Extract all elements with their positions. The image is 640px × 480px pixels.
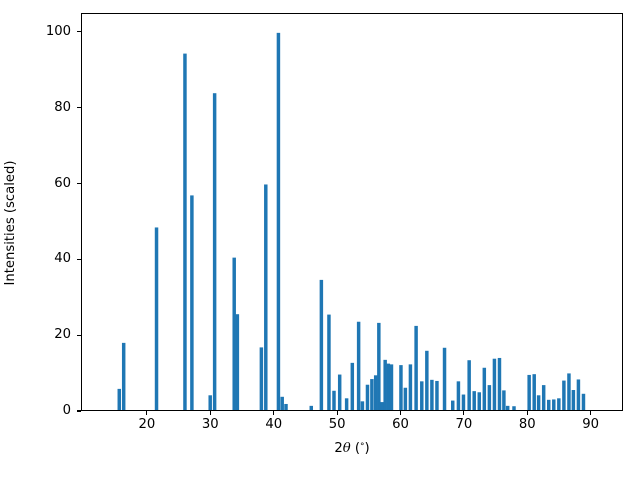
xrd-peak-bar — [404, 388, 407, 410]
x-tick-label: 30 — [185, 417, 235, 433]
xrd-peak-bar — [572, 390, 575, 410]
x-tick-label: 90 — [566, 417, 616, 433]
xrd-peak-bar — [502, 390, 505, 410]
y-tick-mark — [77, 335, 81, 336]
xrd-peak-bar — [443, 348, 446, 410]
xrd-peak-bar — [122, 343, 125, 410]
xrd-peak-bar — [277, 33, 280, 410]
xrd-peak-bar — [493, 359, 496, 410]
xrd-peak-bar — [488, 385, 491, 410]
xrd-peak-bar — [506, 406, 509, 410]
xrd-peak-bar — [457, 381, 460, 410]
y-tick-mark — [77, 410, 81, 411]
xrd-peak-bar — [208, 395, 211, 410]
x-axis-title-unit-open: ( — [351, 441, 360, 456]
xrd-peak-bar — [345, 398, 348, 410]
y-tick-mark — [77, 31, 81, 32]
xrd-peak-bar — [498, 358, 501, 410]
xrd-peak-bar — [366, 385, 369, 410]
x-tick-label: 50 — [312, 417, 362, 433]
xrd-peak-bar — [213, 93, 216, 410]
xrd-peak-bar — [547, 400, 550, 410]
x-tick-label: 40 — [249, 417, 299, 433]
x-tick-label: 20 — [122, 417, 172, 433]
xrd-peak-bar — [562, 381, 565, 410]
x-tick-mark — [210, 411, 211, 415]
xrd-peak-bar — [537, 395, 540, 410]
xrd-peak-bar — [430, 380, 433, 410]
xrd-peak-bar — [567, 373, 570, 410]
xrd-peak-bar — [420, 381, 423, 410]
xrd-peak-bar — [280, 397, 283, 410]
xrd-peak-bar — [264, 184, 267, 410]
xrd-peak-bar — [351, 363, 354, 410]
xrd-peak-bar — [532, 374, 535, 410]
xrd-peak-bar — [183, 54, 186, 410]
xrd-bar-series — [82, 14, 622, 410]
xrd-peak-bar — [380, 402, 383, 410]
x-tick-label: 70 — [439, 417, 489, 433]
y-tick-mark — [77, 107, 81, 108]
y-axis-title: Intensities (scaled) — [0, 24, 22, 422]
xrd-peak-bar — [370, 379, 373, 410]
x-axis-title-unit-close: ) — [365, 441, 370, 456]
xrd-peak-bar — [409, 364, 412, 410]
x-tick-mark — [337, 411, 338, 415]
xrd-peak-bar — [118, 389, 121, 410]
xrd-peak-bar — [377, 323, 380, 410]
y-tick-mark — [77, 183, 81, 184]
xrd-peak-bar — [327, 315, 330, 410]
xrd-peak-bar — [467, 360, 470, 410]
x-tick-mark — [146, 411, 147, 415]
xrd-peak-bar — [577, 379, 580, 410]
xrd-peak-bar — [472, 391, 475, 410]
xrd-peak-bar — [190, 195, 193, 410]
x-tick-mark — [463, 411, 464, 415]
xrd-peak-bar — [582, 394, 585, 410]
xrd-peak-bar — [425, 351, 428, 410]
xrd-peak-bar — [284, 404, 287, 410]
xrd-peak-bar — [483, 368, 486, 410]
xrd-peak-bar — [155, 227, 158, 410]
xrd-peak-bar — [361, 401, 364, 410]
xrd-peak-bar — [260, 347, 263, 410]
xrd-peak-bar — [390, 364, 393, 410]
x-axis-title: 2θ (°) — [81, 441, 623, 456]
x-tick-mark — [590, 411, 591, 415]
xrd-peak-bar — [512, 406, 515, 410]
xrd-peak-bar — [414, 326, 417, 410]
xrd-peak-bar — [387, 364, 390, 410]
x-axis-title-theta-symbol: θ — [343, 441, 351, 456]
xrd-peak-bar — [320, 280, 323, 410]
xrd-peak-bar — [236, 314, 239, 410]
x-tick-mark — [273, 411, 274, 415]
xrd-peak-bar — [451, 401, 454, 410]
xrd-peak-bar — [332, 391, 335, 410]
x-axis-title-prefix: 2 — [334, 441, 342, 456]
xrd-peak-bar — [542, 385, 545, 410]
xrd-peak-bar — [435, 381, 438, 410]
figure-canvas: 2030405060708090 020406080100 2θ (°) Int… — [0, 0, 640, 480]
xrd-peak-bar — [383, 360, 386, 410]
x-tick-mark — [400, 411, 401, 415]
x-tick-mark — [527, 411, 528, 415]
xrd-peak-bar — [462, 395, 465, 410]
xrd-peak-bar — [338, 375, 341, 410]
xrd-peak-bar — [310, 406, 313, 410]
xrd-peak-bar — [552, 399, 555, 410]
xrd-peak-bar — [527, 375, 530, 410]
y-tick-mark — [77, 259, 81, 260]
x-tick-label: 80 — [502, 417, 552, 433]
plot-axes-area — [81, 13, 623, 411]
xrd-peak-bar — [357, 322, 360, 410]
xrd-peak-bar — [478, 392, 481, 410]
x-tick-label: 60 — [375, 417, 425, 433]
xrd-peak-bar — [399, 365, 402, 410]
xrd-peak-bar — [232, 258, 235, 410]
xrd-peak-bar — [374, 375, 377, 410]
xrd-peak-bar — [557, 398, 560, 410]
